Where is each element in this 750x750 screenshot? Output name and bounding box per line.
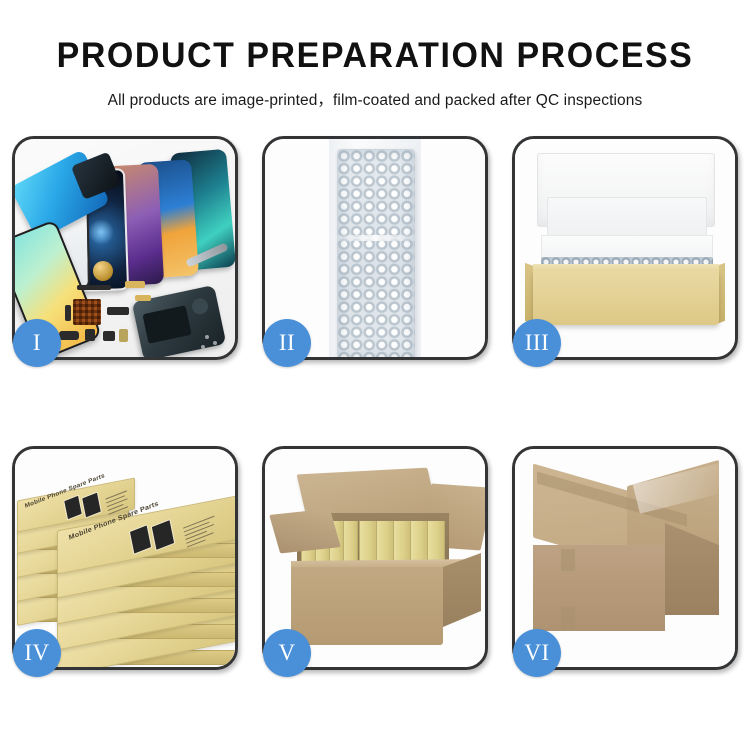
page-subtitle: All products are image-printed，film-coat… [0,73,750,110]
carton-flap-left [269,509,341,554]
step-badge-5: V [263,629,311,677]
step-badge-1: I [13,319,61,367]
bubble-wrap-seam [335,235,415,241]
screw-part-a [205,335,209,339]
page-title: PRODUCT PREPARATION PROCESS [11,0,739,73]
process-step-6[interactable]: VI [512,446,738,670]
sim-tray-part [119,329,128,342]
process-step-4[interactable]: Mobile Phone Spare Parts [12,446,238,670]
earpiece-mesh-part [77,285,111,290]
copper-coil-part [93,261,113,281]
process-step-5[interactable]: V [262,446,488,670]
header: PRODUCT PREPARATION PROCESS All products… [0,0,750,110]
ic-grid-part [73,299,101,325]
screw-part-c [201,345,205,349]
bubble-wrap-texture [337,149,415,357]
connector-part-b [107,307,129,315]
vibrator-part [103,331,115,341]
process-grid: I II III [12,136,738,670]
step-badge-2: II [263,319,311,367]
flex-cable-part-a [125,281,145,288]
sealed-carton-front-face [533,545,665,631]
process-step-1[interactable]: I [12,136,238,360]
process-step-3[interactable]: III [512,136,738,360]
kraft-box-body [533,271,719,325]
speaker-part [85,329,95,341]
step-badge-6: VI [513,629,561,677]
packing-tape-front-lower [561,607,575,629]
process-step-2[interactable]: II [262,136,488,360]
step-badge-3: III [513,319,561,367]
connector-part-a [65,305,71,321]
flex-cable-part-b [135,295,151,301]
camera-module-part [59,331,79,340]
stacked-box-top-right: Mobile Phone Spare Parts [57,513,235,557]
packing-tape-front-upper [561,549,575,571]
infographic-page: PRODUCT PREPARATION PROCESS All products… [0,0,750,750]
step-badge-4: IV [13,629,61,677]
screw-part-b [213,341,217,345]
carton-front-face [291,567,443,645]
